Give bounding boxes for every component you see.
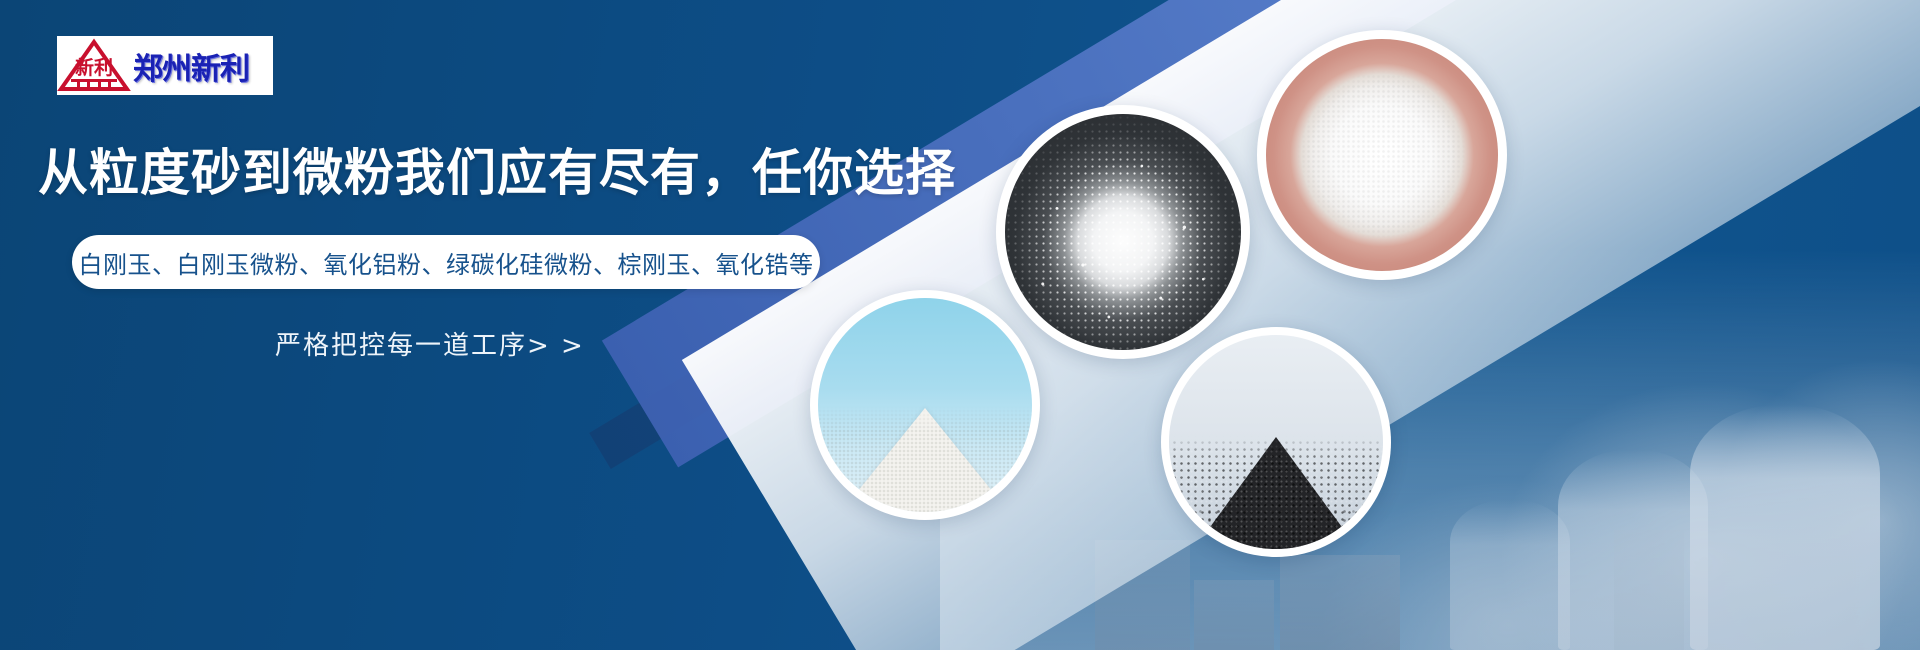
product-image-white-alumina-micropowder[interactable] xyxy=(1257,30,1507,280)
powder-texture xyxy=(1266,39,1498,271)
headline: 从粒度砂到微粉我们应有尽有，任你选择 xyxy=(38,143,956,203)
company-logo[interactable]: 新利 郑州新利 xyxy=(57,36,273,95)
process-tagline-link[interactable]: 严格把控每一道工序> > xyxy=(275,325,585,362)
building-silhouette xyxy=(1280,555,1400,650)
product-photo xyxy=(818,298,1032,512)
product-image-white-fused-alumina-grit[interactable] xyxy=(996,105,1250,359)
logo-company-name: 郑州新利 xyxy=(131,44,249,88)
cooling-tower xyxy=(1690,405,1880,650)
cooling-tower xyxy=(1558,450,1708,650)
building-silhouette xyxy=(1194,580,1274,650)
powder-cone-texture xyxy=(818,397,1032,512)
product-list-text: 白刚玉、白刚玉微粉、氧化铝粉、绿碳化硅微粉、棕刚玉、氧化锆等 xyxy=(79,245,814,280)
product-photo xyxy=(1169,335,1383,549)
product-list-pill[interactable]: 白刚玉、白刚玉微粉、氧化铝粉、绿碳化硅微粉、棕刚玉、氧化锆等 xyxy=(72,235,820,289)
cooling-tower xyxy=(1450,500,1570,650)
product-image-black-silicon-carbide-grit[interactable] xyxy=(1161,327,1391,557)
product-photo xyxy=(1266,39,1498,271)
product-image-white-powder-cone[interactable] xyxy=(810,290,1040,520)
grit-speckles xyxy=(1005,114,1241,350)
xinli-triangle-icon: 新利 xyxy=(57,36,131,95)
product-photo xyxy=(1005,114,1241,350)
black-grit-scatter xyxy=(1169,507,1383,549)
svg-text:新利: 新利 xyxy=(75,56,113,79)
promo-banner: 新利 郑州新利 从粒度砂到微粉我们应有尽有，任你选择 白刚玉、白刚玉微粉、氧化铝… xyxy=(0,0,1920,650)
